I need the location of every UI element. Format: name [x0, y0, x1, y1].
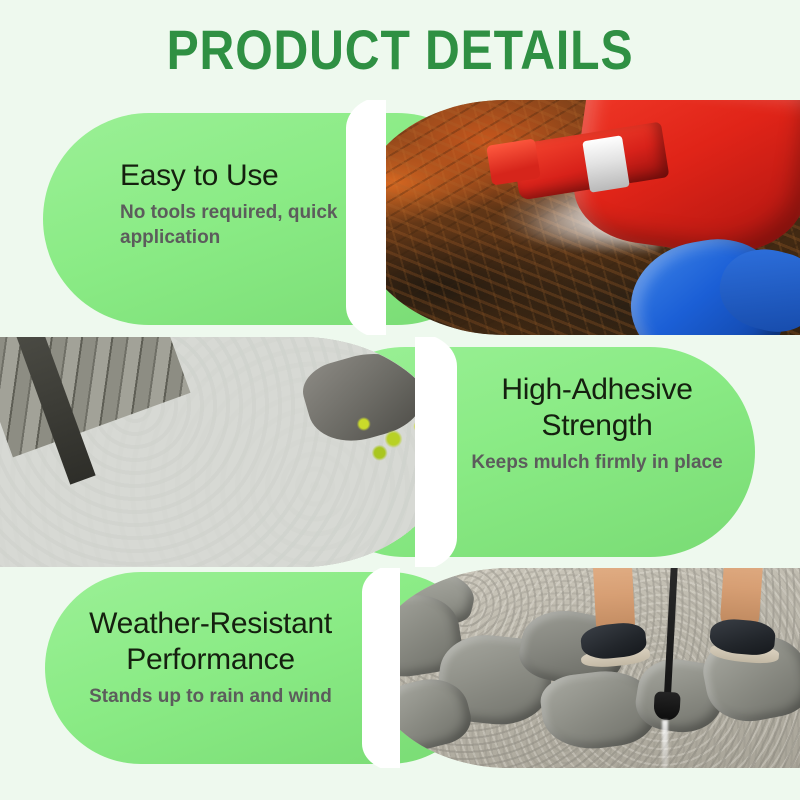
- mulch-spray-photo: [355, 100, 800, 335]
- person-leg: [719, 568, 764, 625]
- feature-card-high-adhesive-strength: High-Adhesive Strength Keeps mulch firml…: [0, 337, 800, 567]
- feature-subline: Keeps mulch firmly in place: [452, 450, 742, 475]
- feature-headline: High-Adhesive Strength: [452, 372, 742, 444]
- feature-image-easy-to-use: [355, 100, 800, 335]
- nozzle-collar: [583, 135, 631, 192]
- stone-spray-photo: [370, 568, 800, 768]
- page-title: PRODUCT DETAILS: [56, 20, 744, 80]
- feature-text-easy-to-use: Easy to Use No tools required, quick app…: [120, 158, 360, 250]
- panel-divider-arc: [415, 337, 457, 567]
- feature-headline: Weather-Resistant Performance: [58, 606, 363, 678]
- feature-card-easy-to-use: Easy to Use No tools required, quick app…: [0, 100, 800, 335]
- feature-headline: Easy to Use: [120, 158, 360, 194]
- feature-text-weather-resistant-performance: Weather-Resistant Performance Stands up …: [58, 606, 363, 709]
- feature-image-weather-resistant-performance: [370, 568, 800, 768]
- panel-divider-arc: [362, 568, 400, 768]
- nozzle-tip: [486, 139, 541, 186]
- white-pebbles-photo: [0, 337, 450, 567]
- feature-card-weather-resistant-performance: Weather-Resistant Performance Stands up …: [0, 568, 800, 768]
- feature-subline: Stands up to rain and wind: [58, 684, 363, 709]
- feature-image-high-adhesive-strength: [0, 337, 450, 567]
- feature-text-high-adhesive-strength: High-Adhesive Strength Keeps mulch firml…: [452, 372, 742, 475]
- water-jet: [662, 720, 668, 768]
- feature-subline: No tools required, quick application: [120, 200, 360, 250]
